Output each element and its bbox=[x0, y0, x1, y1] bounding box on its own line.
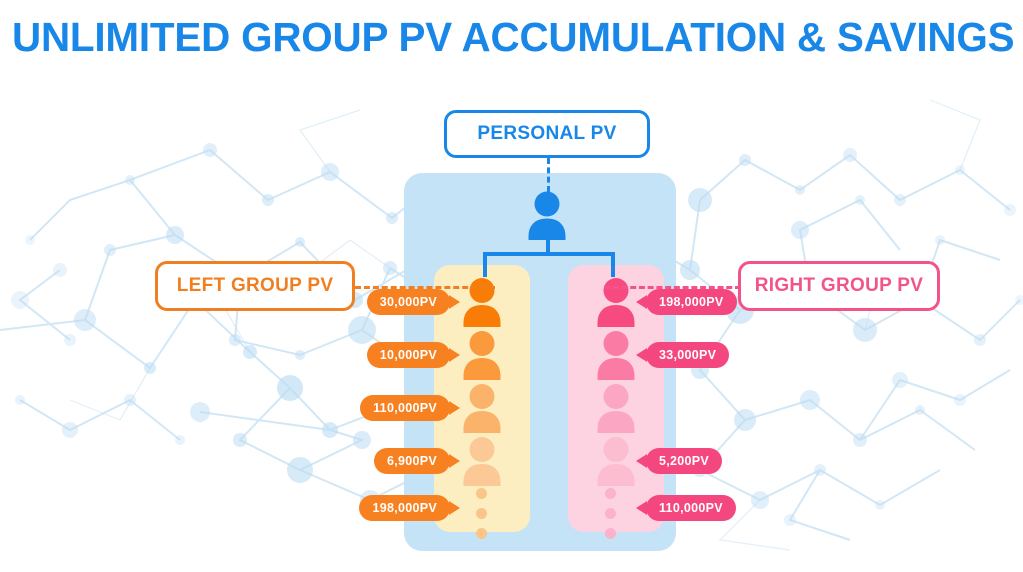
tree-branch-connector bbox=[483, 252, 615, 256]
right-group-pv-badge[interactable]: 198,000PV bbox=[646, 289, 737, 315]
left-group-pv-badge[interactable]: 198,000PV bbox=[359, 495, 450, 521]
person-icon bbox=[594, 330, 638, 380]
person-icon bbox=[460, 330, 504, 380]
pv-badge-value: 110,000PV bbox=[659, 501, 723, 515]
right-group-pv-badge[interactable]: 110,000PV bbox=[646, 495, 736, 521]
person-icon bbox=[460, 277, 504, 327]
pv-badge-value: 10,000PV bbox=[380, 348, 437, 362]
tree-branch-right-drop bbox=[611, 252, 615, 277]
pv-badge-value: 33,000PV bbox=[659, 348, 716, 362]
pv-badge-value: 30,000PV bbox=[380, 295, 437, 309]
ellipsis-icon bbox=[603, 488, 617, 539]
left-group-pv-badge[interactable]: 30,000PV bbox=[367, 289, 450, 315]
person-icon bbox=[594, 277, 638, 327]
left-group-pv-label-text: LEFT GROUP PV bbox=[177, 275, 334, 297]
tree-branch-left-drop bbox=[483, 252, 487, 277]
personal-pv-label-box[interactable]: PERSONAL PV bbox=[444, 110, 650, 158]
left-group-pv-label-box[interactable]: LEFT GROUP PV bbox=[155, 261, 355, 311]
ellipsis-icon bbox=[474, 488, 488, 539]
person-icon bbox=[594, 383, 638, 433]
left-group-pv-badge[interactable]: 10,000PV bbox=[367, 342, 450, 368]
pv-badge-value: 198,000PV bbox=[372, 501, 437, 515]
pv-badge-value: 5,200PV bbox=[659, 454, 709, 468]
left-group-pv-badge[interactable]: 6,900PV bbox=[374, 448, 450, 474]
person-icon bbox=[594, 436, 638, 486]
left-group-pv-badge[interactable]: 110,000PV bbox=[360, 395, 450, 421]
pv-badge-value: 110,000PV bbox=[373, 401, 437, 415]
right-group-pv-badge[interactable]: 5,200PV bbox=[646, 448, 722, 474]
person-icon bbox=[460, 383, 504, 433]
right-group-pv-badge[interactable]: 33,000PV bbox=[646, 342, 729, 368]
pv-badge-value: 198,000PV bbox=[659, 295, 724, 309]
right-group-pv-label-box[interactable]: RIGHT GROUP PV bbox=[738, 261, 940, 311]
personal-pv-dashed-connector bbox=[547, 158, 550, 192]
page-title: UNLIMITED GROUP PV ACCUMULATION & SAVING… bbox=[12, 14, 997, 60]
personal-pv-label-text: PERSONAL PV bbox=[477, 123, 616, 145]
right-group-pv-label-text: RIGHT GROUP PV bbox=[755, 275, 924, 297]
person-icon bbox=[460, 436, 504, 486]
pv-badge-value: 6,900PV bbox=[387, 454, 437, 468]
